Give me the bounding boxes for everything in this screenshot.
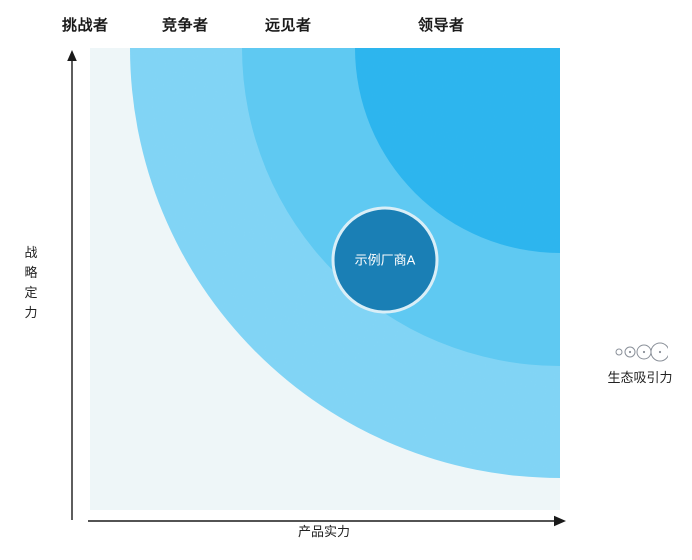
legend-bubble-dot-3 (643, 351, 645, 353)
legend-bubble-dot-4 (659, 351, 661, 353)
y-axis-label: 战 略 定 力 (22, 243, 40, 323)
x-axis-label: 产品实力 (298, 521, 350, 540)
texture-overlay (90, 48, 560, 510)
y-axis-label-char-2: 略 (22, 263, 40, 283)
legend-title: 生态吸引力 (592, 367, 688, 386)
y-axis-label-char-3: 定 (22, 283, 40, 303)
band-layer (90, 48, 560, 510)
y-axis-arrow-icon (67, 50, 77, 61)
x-axis-arrow-icon (554, 516, 566, 526)
y-axis (64, 50, 80, 520)
legend: 生态吸引力 (592, 340, 688, 386)
column-header-competitor: 竞争者 (162, 18, 209, 33)
y-axis-label-char-4: 力 (22, 303, 40, 323)
legend-bubble-icon-1 (616, 349, 622, 355)
column-header-visionary: 远见者 (265, 18, 312, 33)
legend-bubble-dot-2 (629, 351, 631, 353)
column-header-challenger: 挑战者 (62, 18, 109, 33)
legend-marks (592, 340, 688, 364)
plot-area (90, 48, 560, 510)
column-header-leader: 领导者 (418, 18, 465, 33)
y-axis-label-char-1: 战 (22, 243, 40, 263)
quadrant-chart: 挑战者 竞争者 远见者 领导者 (0, 0, 692, 560)
